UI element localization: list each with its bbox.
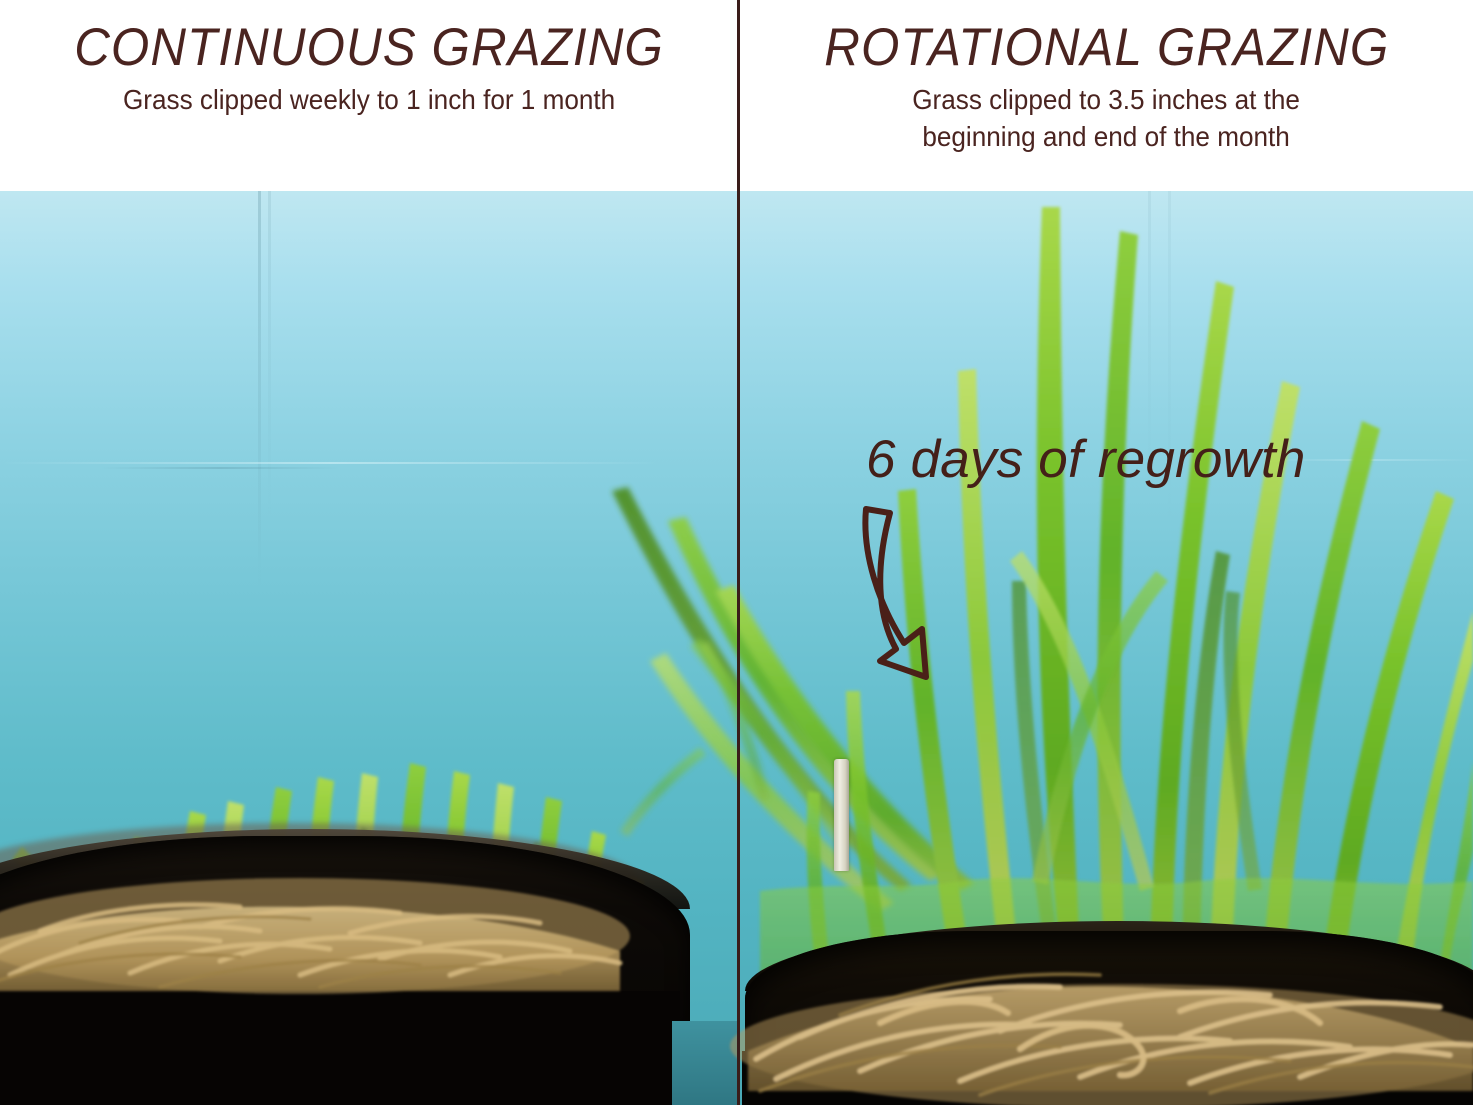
panel-subtitle-right-line1: Grass clipped to 3.5 inches at the [913, 82, 1301, 119]
panel-title-right: ROTATIONAL GRAZING [824, 18, 1389, 77]
curved-down-arrow-icon [852, 491, 952, 691]
panel-title-left: CONTINUOUS GRAZING [74, 18, 664, 77]
panel-divider [737, 0, 740, 1105]
panel-subtitle-left: Grass clipped weekly to 1 inch for 1 mon… [123, 82, 615, 119]
thatch-right [730, 974, 1473, 1105]
thatch-left [0, 878, 630, 994]
panel-subtitle-right: Grass clipped to 3.5 inches at the begin… [913, 82, 1301, 155]
plant-label-stake [834, 759, 849, 871]
header-continuous-grazing: CONTINUOUS GRAZING Grass clipped weekly … [0, 0, 738, 191]
infographic-root: CONTINUOUS GRAZING Grass clipped weekly … [0, 0, 1473, 1105]
panel-subtitle-right-line2: beginning and end of the month [913, 119, 1301, 156]
header-rotational-grazing: ROTATIONAL GRAZING Grass clipped to 3.5 … [740, 0, 1473, 191]
regrowth-annotation-label: 6 days of regrowth [866, 429, 1306, 490]
